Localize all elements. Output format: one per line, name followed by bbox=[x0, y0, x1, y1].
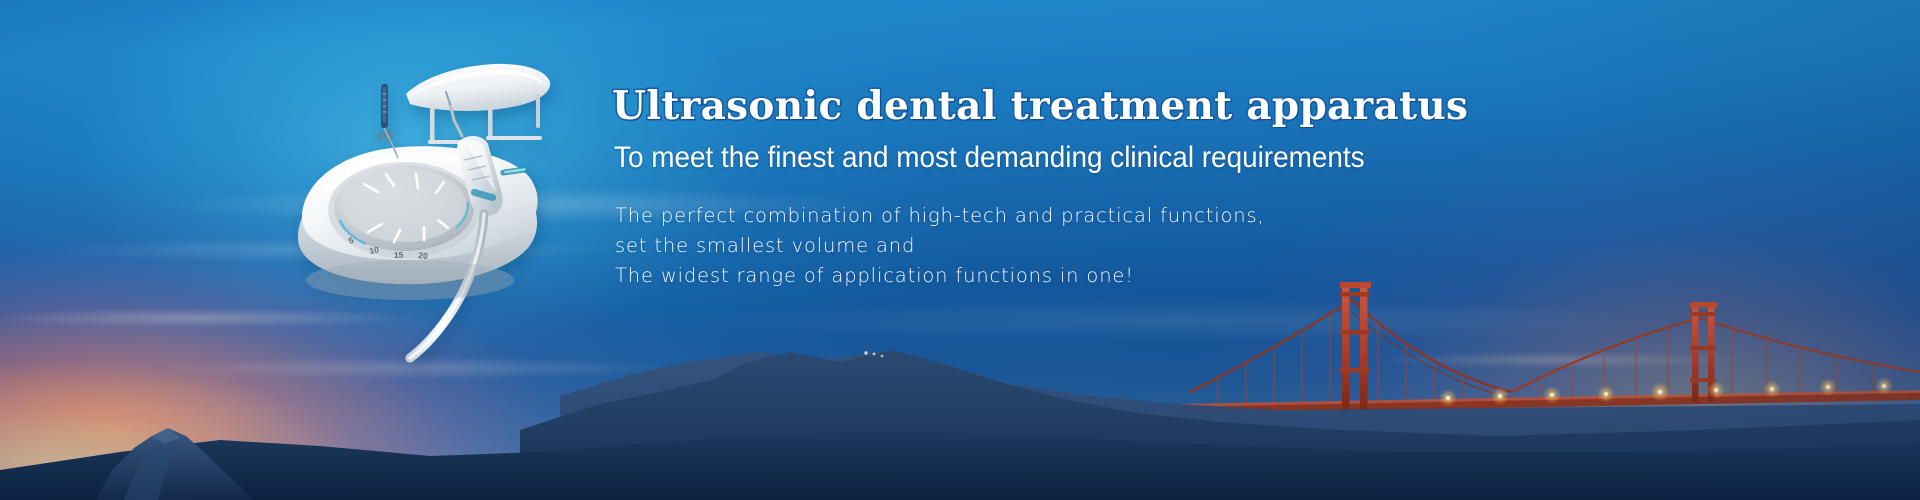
banner-body-copy: The perfect combination of high-tech and… bbox=[615, 201, 1612, 291]
ultrasonic-dental-scaler-product-image: 5 10 15 20 P5 bbox=[258, 42, 588, 372]
banner-copy-block: Ultrasonic dental treatment apparatus To… bbox=[612, 86, 1612, 291]
golden-gate-bridge bbox=[1176, 282, 1920, 414]
scaler-tip-holder bbox=[381, 84, 398, 158]
svg-text:10: 10 bbox=[369, 244, 380, 256]
body-line-2: set the smallest volume and bbox=[615, 231, 1612, 261]
scaler-bottle-tray bbox=[406, 64, 550, 144]
banner-subheadline: To meet the finest and most demanding cl… bbox=[614, 141, 1542, 176]
page-title: Ultrasonic dental treatment apparatus bbox=[612, 86, 1612, 127]
body-line-3: The widest range of application function… bbox=[615, 261, 1612, 291]
product-hero-banner: 5 10 15 20 P5 bbox=[0, 0, 1920, 500]
bridge-tower-near bbox=[1340, 282, 1371, 410]
svg-text:20: 20 bbox=[418, 250, 429, 261]
svg-text:15: 15 bbox=[394, 250, 404, 260]
body-line-1: The perfect combination of high-tech and… bbox=[615, 201, 1612, 231]
